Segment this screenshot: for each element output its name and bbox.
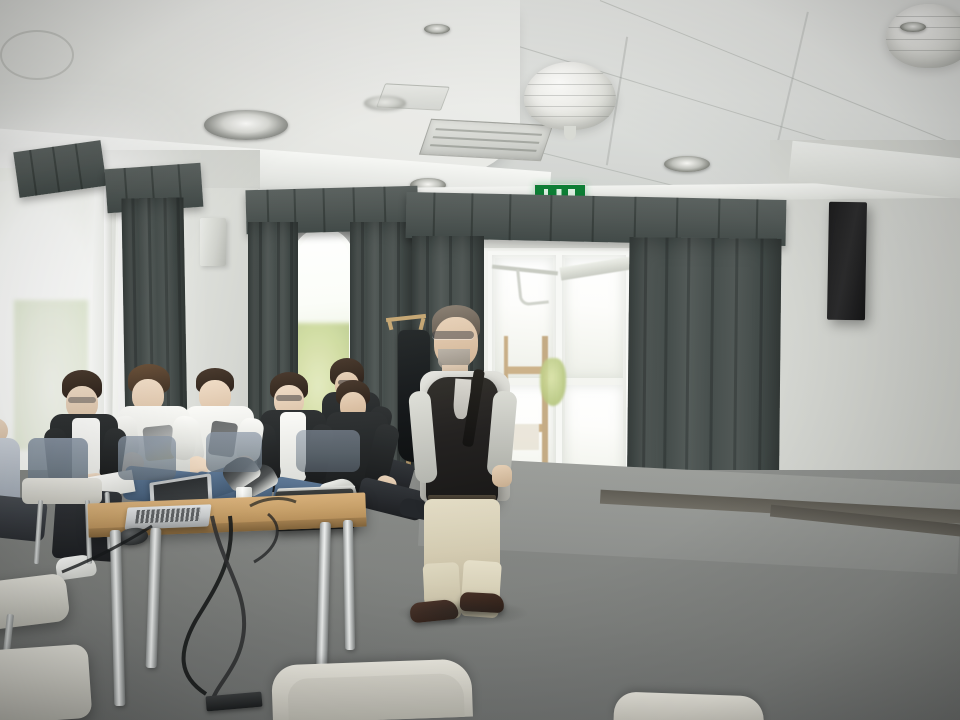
ceiling-downlight-icon (424, 24, 450, 34)
wall-speaker-icon (827, 202, 867, 321)
hand-right (492, 465, 512, 487)
standing-presenter (404, 305, 524, 625)
ceiling-downlight-icon (900, 22, 926, 32)
foreground-chair-seat[interactable] (0, 644, 92, 720)
chair-blue-back[interactable] (206, 432, 262, 472)
glasses-icon (68, 397, 96, 403)
ceiling-downlight-icon (204, 110, 288, 140)
ceiling-circle-detail (0, 30, 74, 80)
foreground-chair-inner (287, 673, 464, 720)
glasses-icon (432, 331, 474, 339)
glasses-icon (276, 395, 302, 401)
wall-sconce-icon (200, 218, 226, 266)
outside-hook (516, 267, 549, 307)
photograph-scene: Seminar room presentation photograph Con… (0, 0, 960, 720)
paper-lantern-light (524, 62, 616, 130)
ceiling-downlight-icon (364, 96, 406, 110)
presenter-shadow (398, 600, 528, 626)
lantern-stem (564, 126, 576, 140)
outside-plant (540, 358, 566, 406)
foreground-chair-back[interactable] (614, 691, 765, 720)
chair-blue-back[interactable] (296, 430, 360, 472)
door-leaf-right[interactable] (558, 251, 630, 496)
